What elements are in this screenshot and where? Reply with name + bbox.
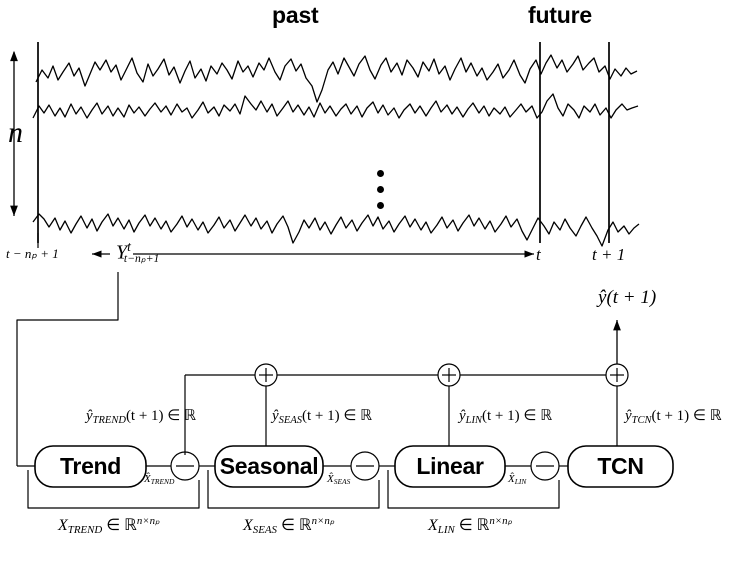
residual-sub-linear: LIN	[515, 477, 527, 486]
block-trend-label: Trend	[60, 453, 121, 480]
time-start-label: t − nₚ + 1	[6, 247, 59, 260]
vertical-ellipsis-icon	[377, 202, 384, 209]
window-symbol-sub: t−nₚ+1	[124, 252, 159, 265]
forecast-rest-seasonal: (t + 1) ∈ ℝ	[302, 408, 372, 424]
forecast-sym-trend: ŷ	[86, 408, 93, 424]
vertical-ellipsis-icon	[377, 170, 384, 177]
block-linear[interactable]: Linear	[395, 446, 505, 487]
forecast-sub-linear: LIN	[466, 415, 482, 426]
input-exp-linear: n×nₚ	[489, 515, 512, 527]
time-now-label: t	[536, 246, 541, 263]
input-label-linear: XLIN∈ ℝn×nₚ	[428, 516, 512, 536]
input-exp-trend: n×nₚ	[137, 515, 160, 527]
input-exp-seasonal: n×nₚ	[312, 515, 335, 527]
future-label: future	[528, 4, 592, 27]
forecast-rest-trend: (t + 1) ∈ ℝ	[126, 408, 196, 424]
block-seasonal-label: Seasonal	[220, 453, 319, 480]
block-linear-label: Linear	[416, 453, 483, 480]
figure-canvas: past future n t − nₚ + 1 Ytt−nₚ+1 t t + …	[0, 0, 747, 561]
block-tcn-label: TCN	[597, 453, 643, 480]
input-sym-linear: X	[428, 517, 438, 534]
input-rest-linear: ∈ ℝ	[459, 517, 490, 534]
time-next-label: t + 1	[592, 246, 625, 263]
residual-sub-seasonal: SEAS	[334, 477, 351, 486]
forecast-sym-tcn: ŷ	[625, 408, 632, 424]
final-output-arg: (t + 1)	[606, 287, 656, 308]
input-rest-trend: ∈ ℝ	[106, 517, 137, 534]
forecast-label-tcn: ŷTCN(t + 1) ∈ ℝ	[625, 409, 722, 426]
input-sym-seasonal: X	[243, 517, 253, 534]
forecast-rest-tcn: (t + 1) ∈ ℝ	[652, 408, 722, 424]
residual-sym-linear: X̂	[508, 473, 515, 485]
forecast-rest-linear: (t + 1) ∈ ℝ	[482, 408, 552, 424]
block-trend[interactable]: Trend	[35, 446, 146, 487]
residual-label-trend: X̂TREND	[144, 474, 174, 486]
forecast-sub-seasonal: SEAS	[279, 415, 302, 426]
residual-sym-seasonal: X̂	[327, 473, 334, 485]
forecast-sym-seasonal: ŷ	[272, 408, 279, 424]
input-sub-trend: TREND	[68, 524, 102, 536]
input-label-seasonal: XSEAS∈ ℝn×nₚ	[243, 516, 334, 536]
forecast-label-seasonal: ŷSEAS(t + 1) ∈ ℝ	[272, 409, 372, 426]
input-rest-seasonal: ∈ ℝ	[281, 517, 312, 534]
forecast-sub-tcn: TCN	[632, 415, 652, 426]
window-symbol: Ytt−nₚ+1	[116, 240, 159, 264]
series-count-label: n	[8, 118, 23, 148]
vertical-ellipsis-icon	[377, 186, 384, 193]
residual-sub-trend: TREND	[151, 477, 175, 486]
block-seasonal[interactable]: Seasonal	[215, 446, 323, 487]
input-sub-seasonal: SEAS	[253, 524, 277, 536]
input-sub-linear: LIN	[438, 524, 455, 536]
residual-label-linear: X̂LIN	[508, 474, 526, 486]
final-output-label: ŷ(t + 1)	[598, 288, 656, 307]
forecast-sub-trend: TREND	[93, 415, 126, 426]
forecast-label-trend: ŷTREND(t + 1) ∈ ℝ	[86, 409, 196, 426]
past-label: past	[272, 4, 319, 27]
forecast-sym-linear: ŷ	[459, 408, 466, 424]
forecast-label-linear: ŷLIN(t + 1) ∈ ℝ	[459, 409, 552, 426]
residual-label-seasonal: X̂SEAS	[327, 474, 350, 486]
input-sym-trend: X	[58, 517, 68, 534]
input-label-trend: XTREND∈ ℝn×nₚ	[58, 516, 160, 536]
residual-sym-trend: X̂	[144, 473, 151, 485]
block-tcn[interactable]: TCN	[568, 446, 673, 487]
